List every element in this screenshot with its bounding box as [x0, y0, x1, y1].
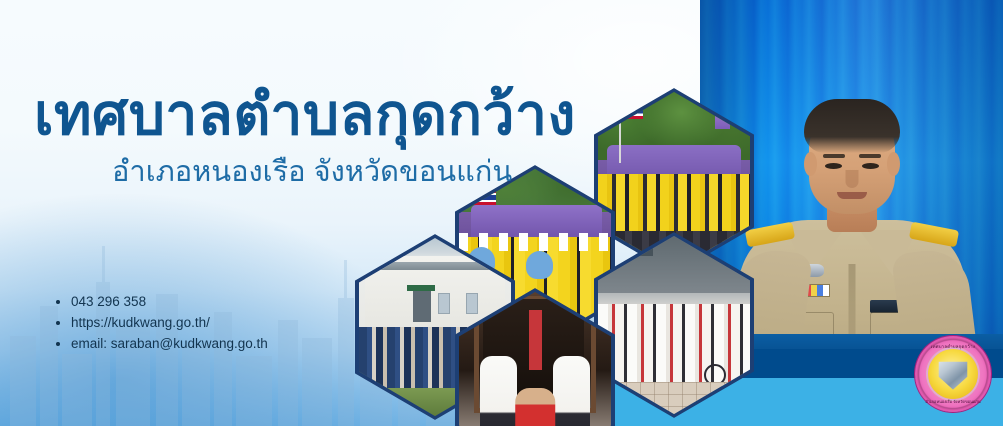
contact-list: 043 296 358 https://kudkwang.go.th/ emai… [54, 291, 268, 354]
flag-pole [619, 103, 621, 164]
organization-subtitle: อำเภอหนองเรือ จังหวัดขอนแก่น [112, 157, 512, 189]
contact-website[interactable]: https://kudkwang.go.th/ [54, 312, 268, 333]
elderly-person-seated [515, 388, 555, 426]
blue-bag-2 [526, 251, 553, 279]
crowd-white-shirts [598, 304, 750, 386]
site-header-banner: เทศบาลตำบลกุดกว้าง อำเภอหนองเรือ จังหวัด… [0, 0, 1003, 426]
person-right [553, 356, 589, 426]
photo-hex-white-group[interactable] [594, 232, 754, 418]
seal-bottom-text: อำเภอหนองเรือ จังหวัดขอนแก่น [925, 398, 980, 405]
seal-top-text: เทศบาลตำบลกุดกว้าง [931, 343, 975, 350]
scene-white-group [598, 236, 750, 414]
organization-title: เทศบาลตำบลกุดกว้าง [34, 86, 576, 144]
contact-phone: 043 296 358 [54, 291, 268, 312]
hex-photo [598, 236, 750, 414]
municipality-seal[interactable]: เทศบาลตำบลกุดกว้าง อำเภอหนองเรือ จังหวัด… [915, 336, 991, 412]
person-left [480, 356, 516, 426]
building-window-1 [438, 293, 451, 314]
photo-collage [0, 0, 1003, 426]
building-door [413, 291, 431, 322]
contact-email[interactable]: email: saraban@kudkwang.go.th [54, 333, 268, 354]
red-scarf-right [535, 310, 542, 371]
building-window-2 [466, 293, 479, 314]
